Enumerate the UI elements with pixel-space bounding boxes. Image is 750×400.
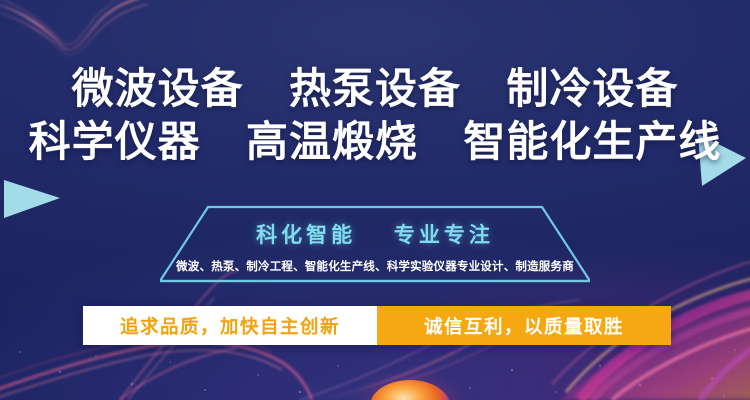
headline-line-1: 微波设备 热泵设备 制冷设备 xyxy=(0,62,750,115)
headline-line-2: 科学仪器 高温煅烧 智能化生产线 xyxy=(0,115,750,168)
headline-line1-part3: 制冷设备 xyxy=(506,65,678,112)
headline: 微波设备 热泵设备 制冷设备 科学仪器 高温煅烧 智能化生产线 xyxy=(0,62,750,168)
slogan-bar: 追求品质，加快自主创新 诚信互利，以质量取胜 xyxy=(83,306,671,345)
panel-subtitle: 微波、热泵、制冷工程、智能化生产线、科学实验仪器专业设计、制造服务商 xyxy=(160,258,590,274)
headline-line2-part3: 智能化生产线 xyxy=(463,118,721,165)
tagline-part1: 科化智能 xyxy=(256,224,356,247)
headline-line1-part2: 热泵设备 xyxy=(289,65,461,112)
tagline: 科化智能 专业专注 xyxy=(160,219,590,249)
headline-line2-part1: 科学仪器 xyxy=(29,118,201,165)
triangle-right-left-icon xyxy=(2,176,64,222)
tagline-panel: 科化智能 专业专注 微波、热泵、制冷工程、智能化生产线、科学实验仪器专业设计、制… xyxy=(160,205,590,290)
headline-line1-part1: 微波设备 xyxy=(72,65,244,112)
slogan-left[interactable]: 追求品质，加快自主创新 xyxy=(83,306,377,345)
slogan-right[interactable]: 诚信互利，以质量取胜 xyxy=(377,306,671,345)
promo-banner: 微波设备 热泵设备 制冷设备 科学仪器 高温煅烧 智能化生产线 科化智能 专业专… xyxy=(0,0,750,400)
headline-line2-part2: 高温煅烧 xyxy=(246,118,418,165)
tagline-part2: 专业专注 xyxy=(394,224,494,247)
glow-orb-icon xyxy=(336,360,486,400)
